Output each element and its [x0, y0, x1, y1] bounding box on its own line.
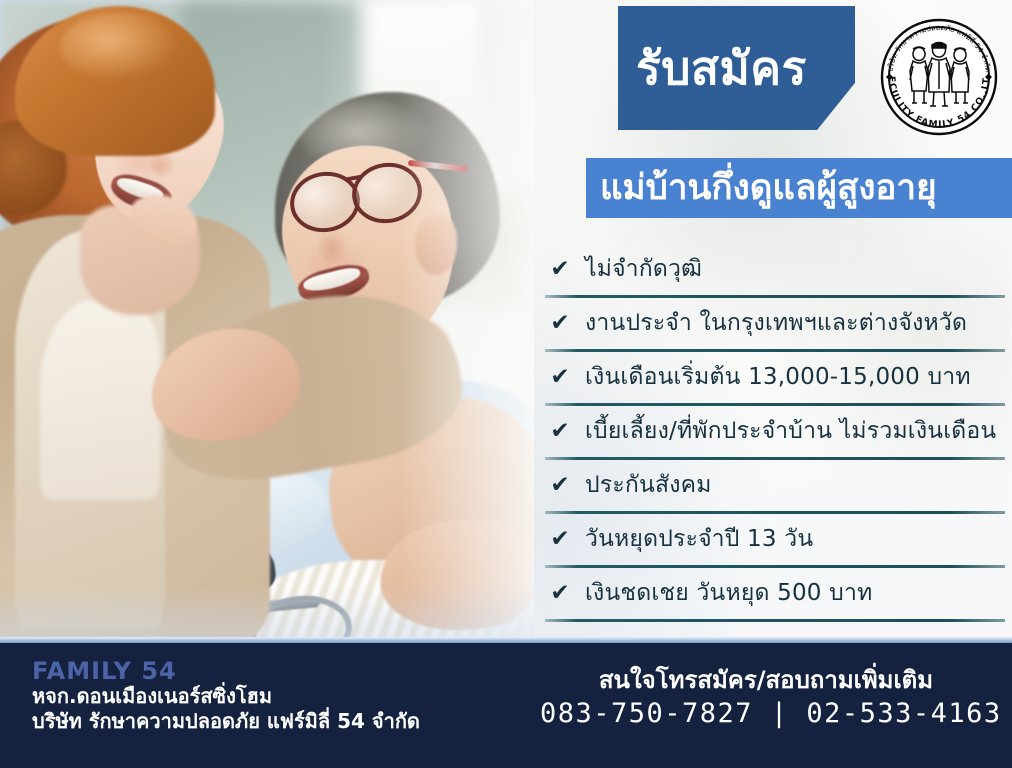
check-icon: ✔	[549, 312, 571, 335]
check-icon: ✔	[549, 366, 571, 389]
list-item-label: เบี้ยเลี้ยง/ที่พักประจำบ้าน ไม่รวมเงินเด…	[585, 419, 996, 444]
list-item-label: วันหยุดประจำปี 13 วัน	[585, 527, 813, 552]
list-item-label: ไม่จำกัดวุฒิ	[585, 257, 702, 282]
list-item: ✔ เงินชดเชย วันหยุด 500 บาท	[545, 568, 1005, 619]
photo-right-fade	[400, 0, 534, 645]
brand-name-th-line2: บริษัท รักษาความปลอดภัย แฟร์มิลี่ 54 จำก…	[32, 709, 420, 734]
check-icon: ✔	[549, 582, 571, 605]
list-item-label: เงินเดือนเริ่มต้น 13,000-15,000 บาท	[585, 365, 971, 390]
list-divider	[545, 619, 1005, 622]
list-item: ✔ วันหยุดประจำปี 13 วัน	[545, 514, 1005, 565]
check-icon: ✔	[549, 258, 571, 281]
company-seal-logo: บริษัท รักษาความปลอดภัย แฟมิลี่ 54 จำกัด…	[876, 14, 1002, 140]
contact-phone-numbers[interactable]: 083-750-7827 | 02-533-4163	[540, 696, 992, 731]
seal-icon: บริษัท รักษาความปลอดภัย แฟมิลี่ 54 จำกัด…	[876, 14, 1002, 140]
recruitment-poster: รับสมัคร แม่บ้านกึ่งดูแลผู้สูงอายุ บริษั…	[0, 0, 1012, 768]
list-item: ✔ งานประจำ ในกรุงเทพฯและต่างจังหวัด	[545, 298, 1005, 349]
footer-bar: FAMILY 54 หจก.ดอนเมืองเนอร์สซิ่งโฮม บริษ…	[0, 643, 1012, 768]
position-banner: แม่บ้านกึ่งดูแลผู้สูงอายุ	[586, 158, 1012, 218]
list-item-label: เงินชดเชย วันหยุด 500 บาท	[585, 581, 872, 606]
photo-elderly-nose	[318, 228, 348, 262]
check-icon: ✔	[549, 420, 571, 443]
contact-label: สนใจโทรสมัคร/สอบถามเพิ่มเติม	[540, 665, 992, 696]
list-item-label: งานประจำ ในกรุงเทพฯและต่างจังหวัด	[585, 311, 967, 336]
check-icon: ✔	[549, 528, 571, 551]
photo-caregiver-inner-top	[40, 300, 160, 500]
check-icon: ✔	[549, 474, 571, 497]
list-item: ✔ เงินเดือนเริ่มต้น 13,000-15,000 บาท	[545, 352, 1005, 403]
position-text: แม่บ้านกึ่งดูแลผู้สูงอายุ	[600, 171, 937, 206]
contact-block: สนใจโทรสมัคร/สอบถามเพิ่มเติม 083-750-782…	[540, 665, 992, 731]
company-info: FAMILY 54 หจก.ดอนเมืองเนอร์สซิ่งโฮม บริษ…	[32, 659, 420, 734]
list-item-label: ประกันสังคม	[585, 473, 712, 498]
brand-name-en: FAMILY 54	[32, 659, 420, 684]
headline-text: รับสมัคร	[636, 45, 807, 91]
list-item: ✔ ประกันสังคม	[545, 460, 1005, 511]
photo-bottom-fade	[0, 585, 534, 645]
list-item: ✔ ไม่จำกัดวุฒิ	[545, 244, 1005, 295]
benefits-list: ✔ ไม่จำกัดวุฒิ ✔ งานประจำ ในกรุงเทพฯและต…	[545, 244, 1005, 622]
headline-banner: รับสมัคร	[618, 6, 855, 130]
caregiver-photo	[0, 0, 534, 645]
list-item: ✔ เบี้ยเลี้ยง/ที่พักประจำบ้าน ไม่รวมเงิน…	[545, 406, 1005, 457]
photo-caregiver-hair-sheen	[60, 12, 180, 82]
brand-name-th-line1: หจก.ดอนเมืองเนอร์สซิ่งโฮม	[32, 684, 420, 709]
